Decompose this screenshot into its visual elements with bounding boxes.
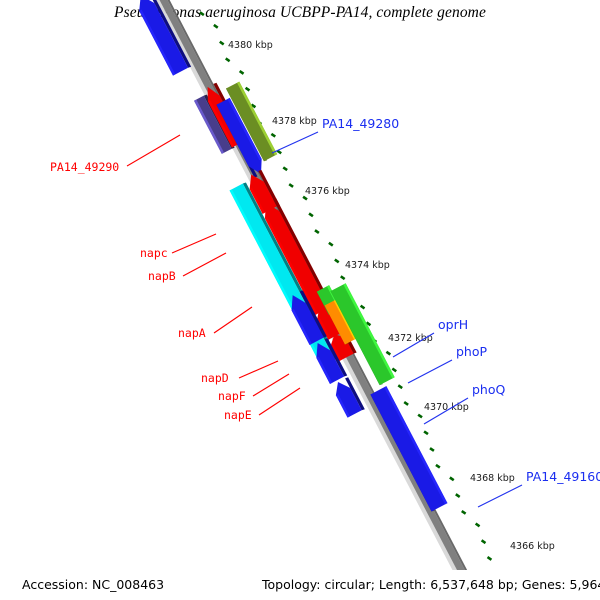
gene-label[interactable]: oprH bbox=[438, 317, 468, 332]
label-leader-line bbox=[259, 388, 300, 415]
label-leader-line bbox=[272, 132, 318, 153]
label-leader-line bbox=[214, 307, 252, 333]
axis-tick-label: 4378 kbp bbox=[272, 116, 317, 127]
label-leader-line bbox=[172, 234, 216, 253]
gene-label[interactable]: PA14_49290 bbox=[50, 160, 119, 174]
label-leader-line bbox=[239, 361, 278, 378]
gene-label[interactable]: phoQ bbox=[472, 382, 506, 397]
status-bar: Accession: NC_008463 Topology: circular;… bbox=[0, 570, 600, 600]
gene-label[interactable]: napF bbox=[218, 389, 246, 403]
genome-map-canvas[interactable]: Pseudomonas aeruginosa UCBPP-PA14, compl… bbox=[0, 0, 600, 600]
axis-tick-label: 4374 kbp bbox=[345, 260, 390, 271]
label-leader-line bbox=[253, 374, 289, 396]
label-leader-line bbox=[408, 360, 452, 383]
label-leader-line bbox=[127, 135, 180, 166]
topology-text: Topology: circular; Length: 6,537,648 bp… bbox=[262, 577, 600, 592]
label-leader-line bbox=[183, 253, 226, 276]
axis-tick-label: 4380 kbp bbox=[228, 40, 273, 51]
accession-text: Accession: NC_008463 bbox=[22, 577, 164, 592]
gene-label[interactable]: phoP bbox=[456, 344, 488, 359]
gene-label[interactable]: napB bbox=[148, 269, 176, 283]
genome-map-svg[interactable]: 4380 kbp4378 kbp4376 kbp4374 kbp4372 kbp… bbox=[0, 0, 600, 600]
gene-label[interactable]: napE bbox=[224, 408, 252, 422]
gene-label[interactable]: napD bbox=[201, 371, 229, 385]
axis-tick-label: 4376 kbp bbox=[305, 186, 350, 197]
axis-tick-label: 4368 kbp bbox=[470, 473, 515, 484]
gene-arrow-layer[interactable] bbox=[139, 0, 447, 511]
label-leader-line bbox=[478, 485, 522, 507]
gene-label[interactable]: napA bbox=[178, 326, 206, 340]
gene-label[interactable]: napc bbox=[140, 246, 168, 260]
axis-tick-label: 4366 kbp bbox=[510, 541, 555, 552]
gene-label[interactable]: PA14_49160 bbox=[526, 469, 600, 484]
gene-label[interactable]: PA14_49280 bbox=[322, 116, 399, 131]
axis-tick-label: 4372 kbp bbox=[388, 333, 433, 344]
